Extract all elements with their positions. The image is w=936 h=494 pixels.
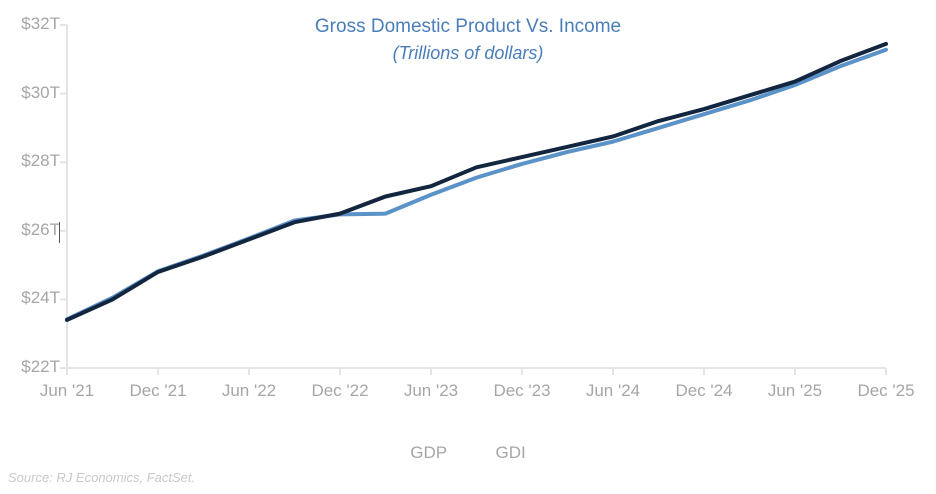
chart-plot-area xyxy=(0,0,936,494)
x-axis-tick-label: Jun '21 xyxy=(17,381,117,401)
x-axis-tick-label: Jun '23 xyxy=(381,381,481,401)
x-axis-ticks xyxy=(67,368,886,375)
chart-container: Gross Domestic Product Vs. Income (Trill… xyxy=(0,0,936,494)
y-axis-tick-label: $24T xyxy=(2,288,60,308)
y-axis-tick-label: $26T xyxy=(2,220,60,240)
y-axis-ticks xyxy=(60,25,67,368)
x-axis-tick-label: Jun '25 xyxy=(745,381,845,401)
y-axis-tick-label: $32T xyxy=(2,14,60,34)
x-axis-tick-label: Dec '24 xyxy=(654,381,754,401)
y-axis-tick-label: $30T xyxy=(2,83,60,103)
x-axis-tick-label: Jun '24 xyxy=(563,381,663,401)
source-note: Source: RJ Economics, FactSet. xyxy=(8,470,195,485)
data-series-group xyxy=(67,44,886,320)
y-axis-tick-label: $22T xyxy=(2,357,60,377)
y-axis-tick-label: $28T xyxy=(2,151,60,171)
text-cursor-artifact xyxy=(59,222,60,243)
x-axis-tick-label: Dec '25 xyxy=(836,381,936,401)
x-axis-tick-label: Jun '22 xyxy=(199,381,299,401)
x-axis-tick-label: Dec '21 xyxy=(108,381,208,401)
series-line-gdp xyxy=(67,44,886,320)
x-axis-tick-label: Dec '23 xyxy=(472,381,572,401)
x-axis-tick-label: Dec '22 xyxy=(290,381,390,401)
axis-group xyxy=(60,25,886,375)
